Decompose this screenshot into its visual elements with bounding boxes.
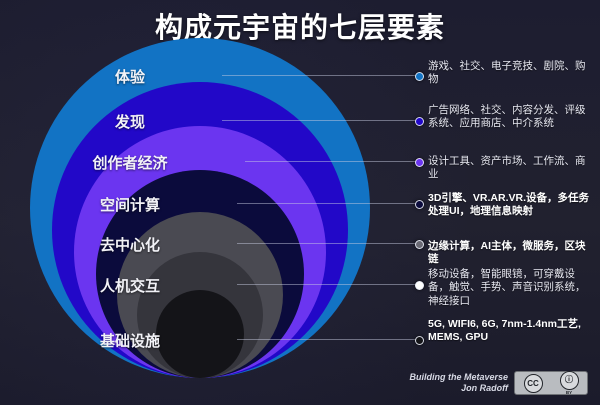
layer-description-2: 广告网络、社交、内容分发、评级系统、应用商店、中介系统 [428, 104, 594, 131]
layer-description-1: 游戏、社交、电子竞技、剧院、购物 [428, 60, 594, 87]
layer-label-5: 去中心化 [0, 234, 260, 255]
connector-line-5 [237, 243, 418, 244]
cc-by-icon: ⓘ [560, 371, 579, 390]
layer-description-6: 移动设备，智能眼镜，可穿戴设备，触觉、手势、声音识别系统，神经接口 [428, 268, 594, 308]
cc-by-label: BY [566, 391, 572, 396]
layer-description-3: 设计工具、资产市场、工作流、商业 [428, 155, 594, 182]
connector-dot-2 [415, 117, 424, 126]
connector-line-2 [222, 120, 418, 121]
layer-label-7: 基础设施 [0, 330, 260, 351]
layer-description-4: 3D引擎、VR.AR.VR.设备，多任务处理UI，地理信息映射 [428, 192, 594, 219]
layer-label-6: 人机交互 [0, 275, 260, 296]
connector-line-3 [245, 161, 418, 162]
attribution-line-1: Building the Metaverse [409, 372, 508, 383]
layer-description-5: 边缘计算，AI主体，微服务，区块链 [428, 240, 594, 267]
layer-label-3: 创作者经济 [0, 152, 260, 173]
connector-line-1 [222, 75, 418, 76]
cc-by-icon-wrap: ⓘ BY [560, 371, 579, 396]
connector-line-7 [237, 339, 418, 340]
metaverse-seven-layers-infographic: 构成元宇宙的七层要素 体验发现创作者经济空间计算去中心化人机交互基础设施 游戏、… [0, 0, 600, 405]
connector-dot-7 [415, 336, 424, 345]
attribution-line-2: Jon Radoff [409, 383, 508, 394]
cc-icon: CC [524, 374, 543, 393]
connector-dot-4 [415, 200, 424, 209]
layer-description-7: 5G, WIFI6, 6G, 7nm-1.4nm工艺, MEMS, GPU [428, 318, 594, 345]
connector-dot-3 [415, 158, 424, 167]
creative-commons-badge: CC ⓘ BY [514, 371, 588, 395]
connector-dot-5 [415, 240, 424, 249]
attribution: Building the Metaverse Jon Radoff [409, 372, 508, 395]
connector-dot-1 [415, 72, 424, 81]
connector-line-4 [237, 203, 418, 204]
connector-line-6 [237, 284, 418, 285]
layer-label-4: 空间计算 [0, 194, 260, 215]
connector-dot-6 [415, 281, 424, 290]
layer-label-2: 发现 [0, 111, 260, 132]
layer-label-1: 体验 [0, 66, 260, 87]
